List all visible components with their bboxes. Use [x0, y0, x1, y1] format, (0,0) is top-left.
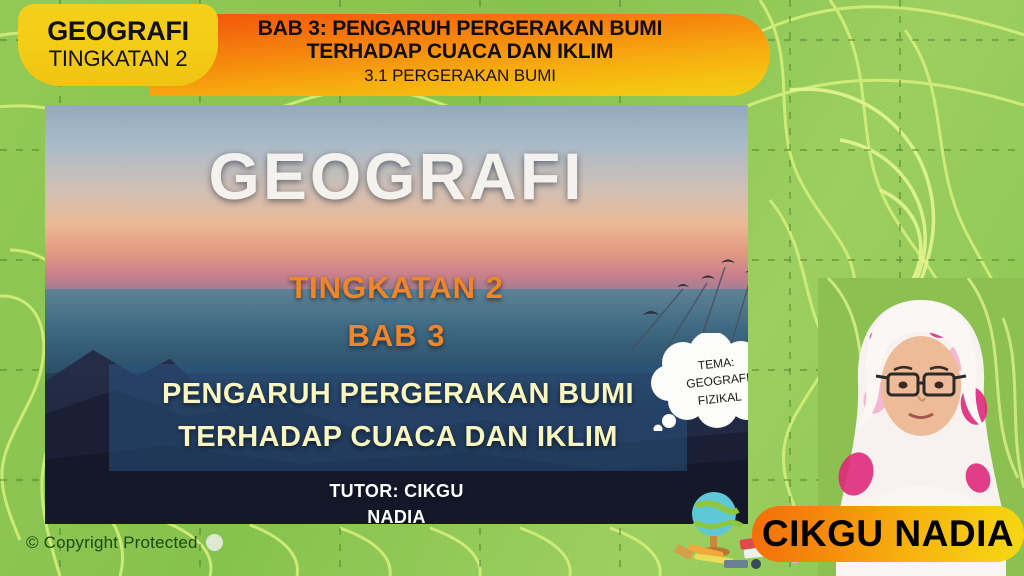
subject-badge: GEOGRAFI TINGKATAN 2 [18, 4, 218, 86]
banner-title-line2: TERHADAP CUACA DAN IKLIM [307, 41, 614, 64]
subject-badge-level: TINGKATAN 2 [49, 45, 188, 73]
thought-bubble: TEMA: GEOGRAFI FIZIKAL [649, 333, 748, 431]
presenter-name-badge: CIKGU NADIA [752, 506, 1024, 562]
chapter-banner: BAB 3: PENGARUH PERGERAKAN BUMI TERHADAP… [150, 14, 770, 96]
theme-line3: FIZIKAL [697, 388, 743, 410]
subject-badge-title: GEOGRAFI [47, 18, 189, 45]
tutor-line1: TUTOR: CIKGU [45, 479, 748, 505]
presentation-slide: GEOGRAFI TINGKATAN 2 BAB 3 PENGARUH PERG… [45, 105, 748, 524]
slide-chapter-text: BAB 3 [45, 320, 748, 351]
presenter-name-text: CIKGU NADIA [762, 513, 1014, 555]
banner-subtitle: 3.1 PERGERAKAN BUMI [364, 63, 556, 89]
slide-tutor-credit: TUTOR: CIKGU NADIA [45, 479, 748, 524]
watermark-icon [206, 534, 223, 551]
copyright-notice: © Copyright Protected [26, 533, 223, 553]
slide-title-box: PENGARUH PERGERAKAN BUMI TERHADAP CUACA … [109, 364, 687, 471]
slide-title-line2: TERHADAP CUACA DAN IKLIM [115, 416, 681, 459]
tutor-line2: NADIA [45, 505, 748, 524]
copyright-text: © Copyright Protected [26, 533, 198, 552]
thought-bubble-text: TEMA: GEOGRAFI FIZIKAL [644, 326, 748, 437]
banner-title-line1: BAB 3: PENGARUH PERGERAKAN BUMI [258, 18, 663, 41]
slide-title-line1: PENGARUH PERGERAKAN BUMI [115, 373, 681, 416]
slide-main-heading: GEOGRAFI [45, 143, 748, 209]
slide-level-text: TINGKATAN 2 [45, 272, 748, 303]
